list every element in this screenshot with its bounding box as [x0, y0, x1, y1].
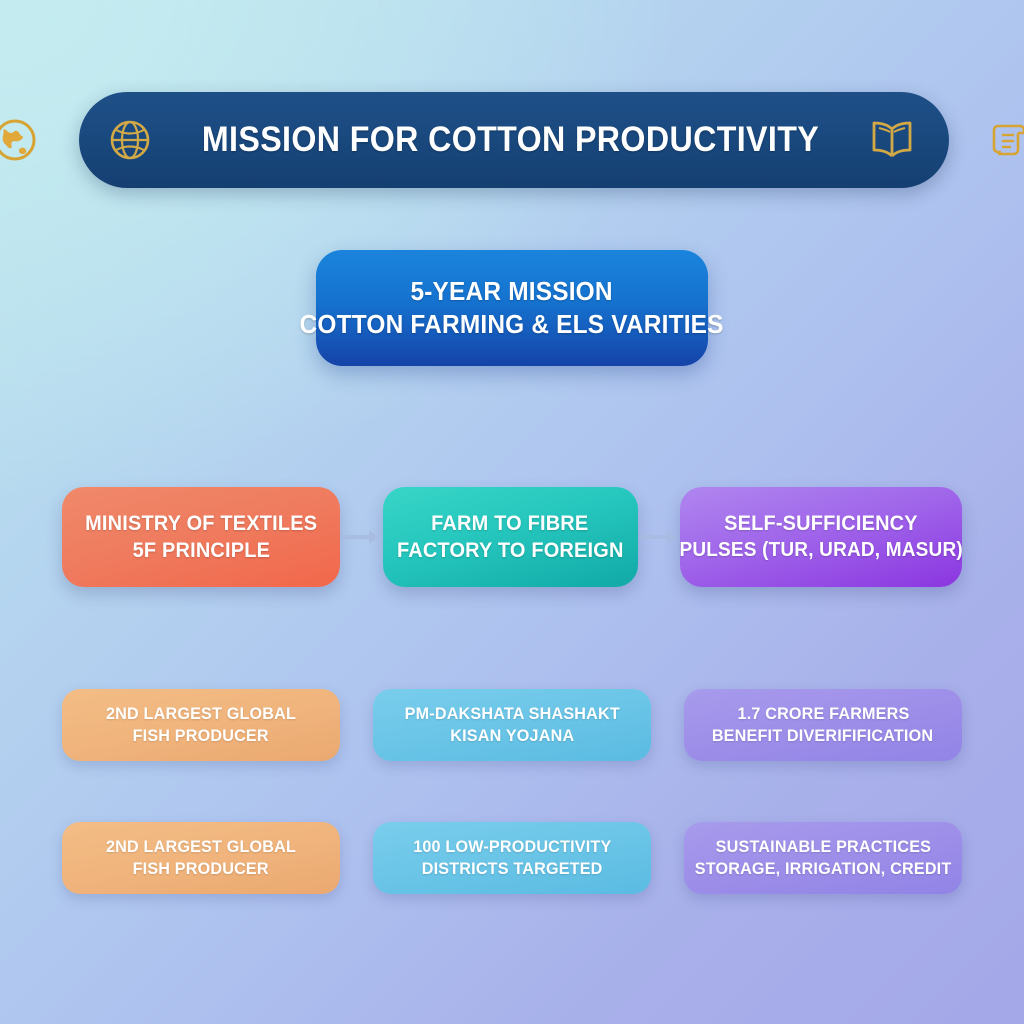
stat-card-line-2: FISH PRODUCER [133, 859, 269, 879]
stat-card-line-1: 2ND LARGEST GLOBAL [106, 704, 296, 724]
subtitle-line-1: 5-YEAR MISSION [411, 276, 613, 307]
stat-card-line-1: 1.7 CRORE FARMERS [737, 704, 909, 724]
stat-card-line-1: SUSTAINABLE PRACTICES [715, 837, 930, 857]
title-pill: MISSION FOR COTTON PRODUCTIVITY [79, 92, 950, 188]
arrow-right-icon [638, 528, 681, 546]
stats-row-3: 2ND LARGEST GLOBAL FISH PRODUCER 100 LOW… [62, 822, 962, 894]
stat-card-line-1: PM-DAKSHATA SHASHAKT [404, 704, 619, 724]
flow-card-line-2: 5F PRINCIPLE [132, 539, 270, 563]
stats-row-2: 2ND LARGEST GLOBAL FISH PRODUCER PM-DAKS… [62, 689, 962, 761]
subtitle-line-2: COTTON FARMING & ELS VARITIES [300, 309, 724, 340]
flow-card-line-1: SELF-SUFFICIENCY [724, 512, 918, 536]
stat-card-line-1: 2ND LARGEST GLOBAL [106, 837, 296, 857]
stat-card-crore-farmers-benefit: 1.7 CRORE FARMERS BENEFIT DIVERIFIFICATI… [684, 689, 962, 761]
stat-card-line-2: BENEFIT DIVERIFIFICATION [712, 726, 933, 746]
globe-earth-icon [0, 114, 41, 166]
flow-row: MINISTRY OF TEXTILES 5F PRINCIPLE FARM T… [62, 487, 962, 587]
stat-card-line-1: 100 LOW-PRODUCTIVITY [413, 837, 611, 857]
stat-card-sustainable-practices: SUSTAINABLE PRACTICES STORAGE, IRRIGATIO… [684, 822, 962, 894]
header-row: MISSION FOR COTTON PRODUCTIVITY [0, 92, 1024, 188]
stat-card-line-2: DISTRICTS TARGETED [422, 859, 603, 879]
arrow-right-icon [340, 528, 383, 546]
flow-card-line-2: PULSES (TUR, URAD, MASUR) [679, 539, 962, 562]
stat-card-fish-producer: 2ND LARGEST GLOBAL FISH PRODUCER [62, 689, 340, 761]
flow-card-line-1: MINISTRY OF TEXTILES [85, 512, 317, 536]
open-book-icon [865, 118, 919, 162]
stat-card-low-productivity-districts: 100 LOW-PRODUCTIVITY DISTRICTS TARGETED [373, 822, 651, 894]
flow-card-line-1: FARM TO FIBRE [431, 512, 588, 536]
globe-wireframe-icon [105, 115, 155, 165]
page-title: MISSION FOR COTTON PRODUCTIVITY [201, 120, 818, 160]
flow-card-ministry-of-textiles: MINISTRY OF TEXTILES 5F PRINCIPLE [62, 487, 340, 587]
flow-card-line-2: FACTORY TO FOREIGN [397, 539, 624, 563]
stat-card-line-2: FISH PRODUCER [133, 726, 269, 746]
subtitle-card: 5-YEAR MISSION COTTON FARMING & ELS VARI… [316, 250, 708, 366]
flow-card-farm-to-fibre: FARM TO FIBRE FACTORY TO FOREIGN [383, 487, 638, 587]
stat-card-fish-producer-duplicate: 2ND LARGEST GLOBAL FISH PRODUCER [62, 822, 340, 894]
stat-card-line-2: KISAN YOJANA [450, 726, 574, 746]
infographic-canvas: MISSION FOR COTTON PRODUCTIVITY [0, 0, 1024, 1024]
stat-card-pm-dakshata-shashakt-kisan-yojana: PM-DAKSHATA SHASHAKT KISAN YOJANA [373, 689, 651, 761]
scroll-document-icon [983, 114, 1024, 166]
flow-card-self-sufficiency: SELF-SUFFICIENCY PULSES (TUR, URAD, MASU… [680, 487, 962, 587]
stat-card-line-2: STORAGE, IRRIGATION, CREDIT [695, 859, 952, 879]
